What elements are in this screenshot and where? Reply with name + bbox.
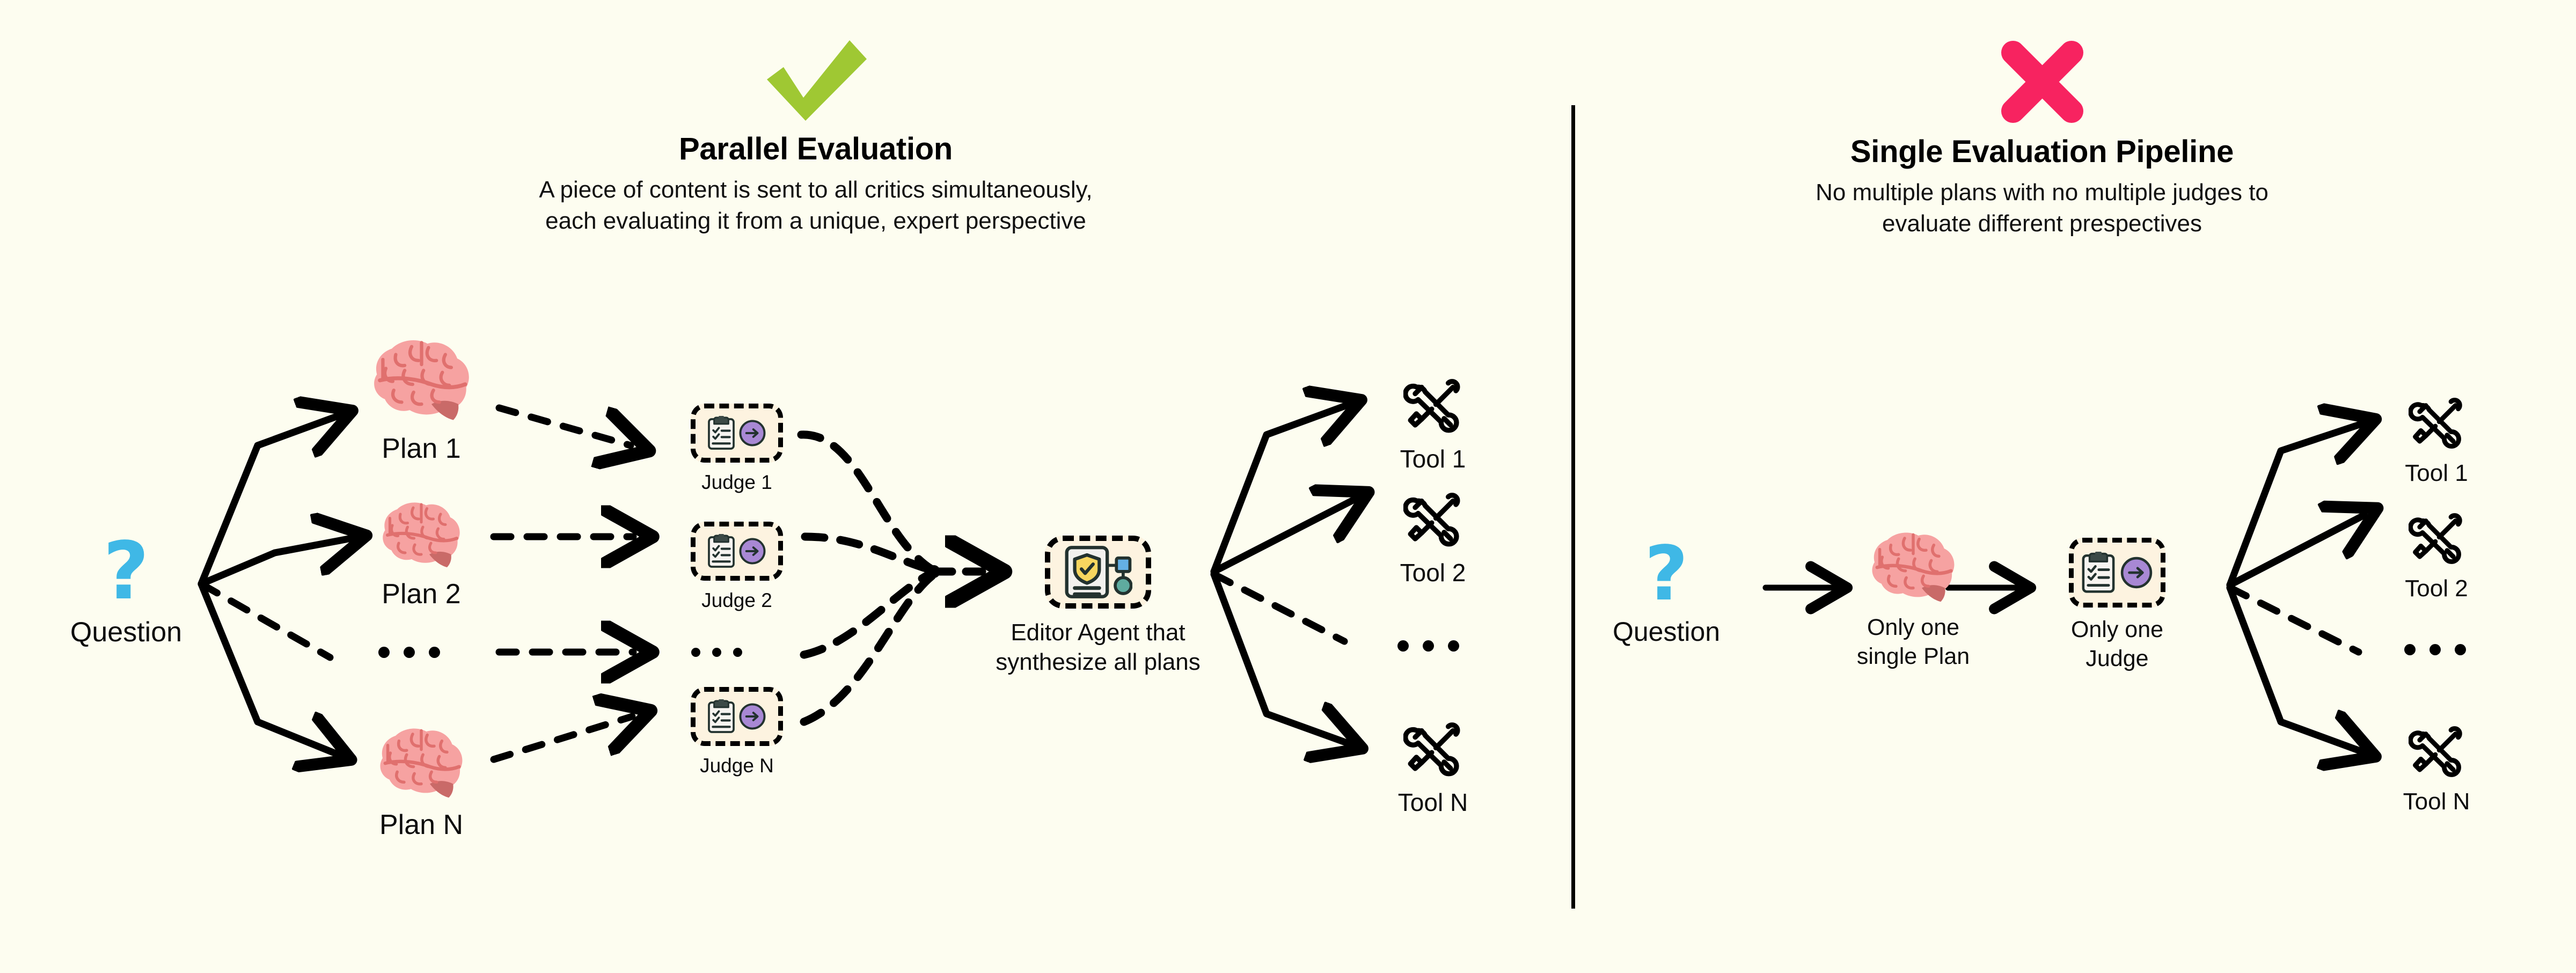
edge-editor-to-tool2 [1214, 499, 1355, 572]
plan-1-label: Plan 1 [382, 433, 460, 465]
wrench-screwdriver-icon [1403, 492, 1462, 551]
panel-divider [1571, 105, 1575, 909]
tool-n-node: Tool N [1363, 722, 1503, 817]
plan-n-label: Plan N [379, 809, 463, 841]
arrow-circle-icon [738, 419, 766, 447]
editor-agent-node[interactable]: Editor Agent that synthesize all plans [982, 536, 1214, 677]
left-question-node: ? Question [48, 531, 204, 648]
right-tool-2-node: Tool 2 [2372, 513, 2501, 602]
edge-r-judge-to-toolN [2230, 588, 2361, 751]
plan-1-node: Plan 1 [343, 333, 499, 465]
question-mark-icon: ? [1644, 537, 1688, 601]
right-tool-1-label: Tool 1 [2405, 459, 2468, 487]
plan-2-label: Plan 2 [382, 578, 460, 610]
question-mark-icon: ? [103, 531, 149, 600]
single-plan-label: Only one single Plan [1857, 613, 1970, 671]
edge-r-judge-to-tool1 [2230, 424, 2361, 585]
wrench-screwdriver-icon [2409, 726, 2464, 781]
edge-question-to-planN [201, 584, 337, 754]
right-tool-n-node: Tool N [2372, 726, 2501, 815]
edge-question-to-ellipsis [201, 584, 330, 657]
judge-2-node[interactable]: Judge 2 [670, 522, 804, 612]
edge-judge1-to-merge [801, 435, 931, 569]
edge-editor-to-toolN [1214, 574, 1348, 743]
brain-icon [1870, 526, 1956, 605]
edge-planN-to-judgeN [494, 716, 632, 759]
arrow-circle-icon [2120, 556, 2153, 589]
tool-1-node: Tool 1 [1363, 378, 1503, 473]
edge-judge2-to-merge [805, 537, 931, 570]
check-mark-icon [759, 38, 872, 123]
judge-1-node[interactable]: Judge 1 [670, 404, 804, 494]
brain-icon [381, 496, 462, 570]
judge-2-card[interactable] [691, 522, 783, 581]
plans-ellipsis-icon [378, 647, 440, 658]
tools-ellipsis-icon [1397, 640, 1459, 652]
brain-icon [378, 722, 464, 801]
merge-point [927, 565, 940, 578]
edge-question-to-plan2 [201, 538, 352, 584]
clipboard-checklist-icon [707, 534, 735, 568]
single-judge-label: Only one Judge [2071, 615, 2163, 673]
clipboard-checklist-icon [2081, 552, 2116, 594]
right-tool-1-node: Tool 1 [2372, 397, 2501, 487]
right-question-label: Question [1613, 616, 1720, 647]
edge-r-judge-to-tool2 [2230, 515, 2364, 585]
left-question-label: Question [70, 616, 182, 648]
diagram-canvas: Parallel Evaluation A piece of content i… [0, 0, 2576, 973]
judge-n-card[interactable] [691, 687, 783, 746]
judge-n-node[interactable]: Judge N [670, 687, 804, 778]
tool-1-label: Tool 1 [1400, 445, 1466, 473]
judge-1-label: Judge 1 [701, 471, 772, 494]
edge-editor-to-tool-ellipsis [1214, 574, 1344, 641]
clipboard-checklist-icon [707, 416, 735, 450]
brain-icon [372, 333, 471, 424]
arrow-circle-icon [738, 703, 766, 730]
editor-agent-card[interactable] [1045, 536, 1151, 609]
document-shield-workflow-icon [1064, 543, 1132, 602]
single-judge-card[interactable] [2069, 538, 2165, 608]
edge-editor-to-tool1 [1214, 405, 1347, 572]
tool-2-label: Tool 2 [1400, 559, 1466, 587]
edge-question-to-plan1 [201, 416, 338, 584]
judge-n-label: Judge N [700, 755, 774, 778]
edge-r-judge-to-tool-ellipsis [2230, 588, 2359, 652]
edge-plan1-to-judge1 [499, 408, 631, 445]
wrench-screwdriver-icon [2409, 513, 2464, 568]
right-question-node: ? Question [1594, 537, 1739, 647]
left-panel-subtitle: A piece of content is sent to all critic… [539, 174, 1092, 237]
wrench-screwdriver-icon [1403, 722, 1462, 781]
left-panel-header: Parallel Evaluation A piece of content i… [429, 38, 1202, 237]
wrench-screwdriver-icon [2409, 397, 2464, 453]
edge-judge-ellipsis-to-merge [804, 573, 931, 655]
editor-agent-label: Editor Agent that synthesize all plans [996, 618, 1201, 677]
right-panel-subtitle: No multiple plans with no multiple judge… [1816, 177, 2268, 239]
tool-n-label: Tool N [1398, 788, 1468, 817]
plan-2-node: Plan 2 [343, 496, 499, 610]
right-panel-title: Single Evaluation Pipeline [1850, 134, 2234, 170]
clipboard-checklist-icon [707, 699, 735, 734]
cross-mark-icon [1993, 38, 2092, 126]
right-tool-2-label: Tool 2 [2405, 575, 2468, 602]
judge-2-label: Judge 2 [701, 589, 772, 612]
plan-n-node: Plan N [343, 722, 499, 841]
edge-judgeN-to-merge [804, 575, 933, 722]
single-judge-node[interactable]: Only one Judge [2039, 538, 2195, 673]
left-panel-title: Parallel Evaluation [679, 131, 953, 167]
single-plan-node: Only one single Plan [1835, 526, 1991, 671]
judge-1-card[interactable] [691, 404, 783, 463]
right-panel-header: Single Evaluation Pipeline No multiple p… [1650, 38, 2434, 239]
judges-ellipsis-icon [691, 648, 742, 657]
right-tools-ellipsis-icon [2404, 644, 2466, 655]
wrench-screwdriver-icon [1403, 378, 1462, 437]
arrow-circle-icon [738, 537, 766, 565]
tool-2-node: Tool 2 [1363, 492, 1503, 587]
right-tool-n-label: Tool N [2403, 788, 2470, 815]
